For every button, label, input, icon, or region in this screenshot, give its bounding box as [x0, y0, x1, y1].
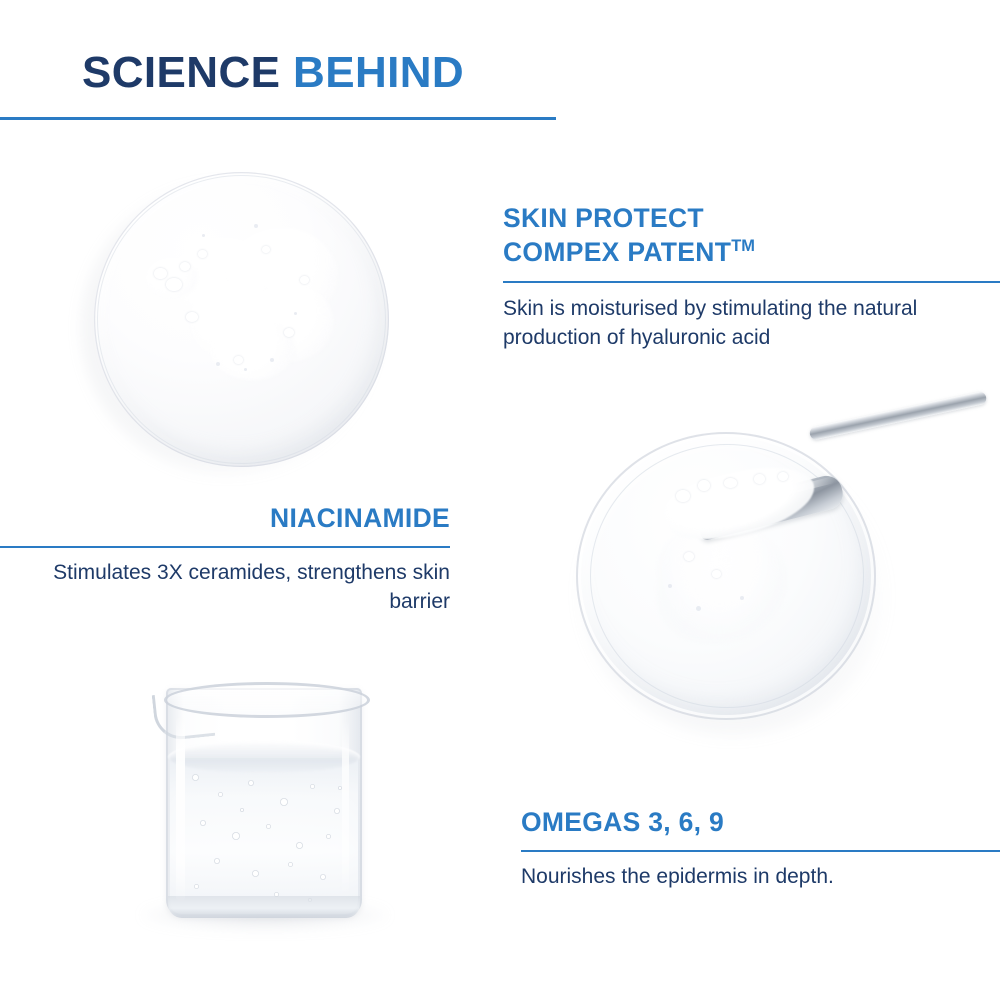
bubble: [192, 774, 199, 781]
powder-speck: [294, 312, 297, 315]
block-body-niacinamide: Stimulates 3X ceramides, strengthens ski…: [0, 559, 450, 617]
powder-dish-image: [94, 172, 389, 467]
powder-grain: [778, 472, 788, 481]
powder-speck: [216, 362, 220, 366]
bubble: [252, 870, 259, 877]
block-divider-rule: [503, 281, 1000, 284]
powder-grain: [684, 552, 694, 561]
science-behind-infographic: SCIENCE BEHIND SKIN PROTECT COMPEX PA: [0, 0, 1000, 1000]
beaker-liquid-surface: [168, 740, 360, 774]
bubble: [310, 784, 315, 789]
bubble: [214, 858, 220, 864]
bubble: [232, 832, 240, 840]
powder-grain: [284, 328, 294, 337]
powder-grain: [724, 478, 737, 488]
powder-speck: [270, 358, 274, 362]
block-body-skin-protect: Skin is moisturised by stimulating the n…: [503, 295, 1000, 353]
powder-grain: [698, 480, 710, 491]
info-block-omegas: OMEGAS 3, 6, 9 Nourishes the epidermis i…: [521, 806, 1000, 892]
powder-grain: [754, 474, 765, 484]
spatula-dish-image: [572, 420, 972, 750]
powder-grain: [300, 276, 309, 284]
page-title: SCIENCE BEHIND: [82, 50, 464, 96]
powder-speck: [668, 584, 672, 588]
bubble: [240, 808, 244, 812]
block-heading-niacinamide: NIACINAMIDE: [0, 502, 450, 536]
bubble: [248, 780, 254, 786]
powder-grain: [712, 570, 721, 578]
powder-grain: [198, 250, 207, 258]
powder-grain: [234, 356, 243, 364]
block-heading-skin-protect: SKIN PROTECT COMPEX PATENTTM: [503, 202, 1000, 270]
bubble: [288, 862, 293, 867]
bubble: [326, 834, 331, 839]
info-block-skin-protect: SKIN PROTECT COMPEX PATENTTM Skin is moi…: [503, 202, 1000, 353]
heading-line-1: SKIN PROTECT: [503, 203, 704, 233]
powder-speck: [202, 234, 205, 237]
bubble: [194, 884, 199, 889]
beaker-highlight-left: [176, 716, 185, 902]
bubble: [200, 820, 206, 826]
page-title-part-science: SCIENCE: [82, 48, 293, 97]
bubble: [218, 792, 223, 797]
beaker-image: [158, 664, 376, 954]
beaker-liquid: [170, 758, 358, 914]
bubble: [280, 798, 288, 806]
beaker-base: [168, 896, 360, 918]
powder-grain: [180, 262, 190, 271]
info-block-niacinamide: NIACINAMIDE Stimulates 3X ceramides, str…: [0, 502, 450, 617]
trademark-symbol: TM: [731, 237, 755, 255]
block-divider-rule: [0, 546, 450, 549]
powder-grain: [166, 278, 182, 291]
title-underline-rule: [0, 117, 556, 120]
page-title-part-behind: BEHIND: [293, 48, 464, 97]
bubble: [334, 808, 340, 814]
powder-speck: [696, 606, 701, 611]
powder-speck: [740, 596, 744, 600]
powder-grain: [186, 312, 198, 322]
powder-cluster: [210, 318, 296, 380]
block-body-omegas: Nourishes the epidermis in depth.: [521, 863, 1000, 892]
heading-line-2: COMPEX PATENT: [503, 237, 731, 267]
beaker-highlight-right: [342, 720, 349, 896]
powder-grain: [262, 246, 270, 253]
powder-speck: [254, 224, 258, 228]
bubble: [296, 842, 303, 849]
powder-grain: [154, 268, 167, 279]
powder-speck: [244, 368, 247, 371]
bubble: [320, 874, 326, 880]
powder-grain: [676, 490, 690, 502]
spatula-handle: [809, 391, 988, 441]
block-divider-rule: [521, 850, 1000, 853]
block-heading-omegas: OMEGAS 3, 6, 9: [521, 806, 1000, 840]
bubble: [266, 824, 271, 829]
